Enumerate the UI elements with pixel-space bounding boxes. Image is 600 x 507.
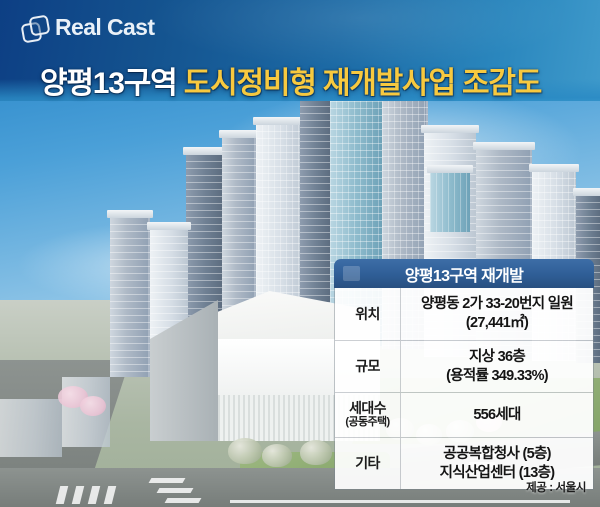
crosswalk-stripe bbox=[157, 488, 194, 493]
row-label: 규모 bbox=[355, 358, 380, 374]
row-value-cell: 양평동 2가 33-20번지 일원 (27,441㎡) bbox=[401, 288, 593, 340]
row-value-line: (용적률 349.33%) bbox=[446, 367, 548, 386]
row-value-line: 지상 36층 bbox=[469, 348, 525, 367]
table-row: 세대수 (공동주택) 556세대 bbox=[335, 393, 593, 437]
spec-table-title: 양평13구역 재개발 bbox=[405, 262, 523, 286]
crosswalk-stripe bbox=[165, 498, 202, 503]
crosswalk-stripe bbox=[149, 478, 186, 483]
row-label: 위치 bbox=[355, 306, 380, 322]
page-title-highlight: 양평13구역 bbox=[40, 67, 177, 100]
tree bbox=[300, 440, 332, 465]
table-row: 규모 지상 36층 (용적률 349.33%) bbox=[335, 341, 593, 394]
row-label-cell: 기타 bbox=[335, 438, 401, 490]
row-sublabel: (공동주택) bbox=[345, 416, 389, 429]
page-title: 양평13구역 도시정비형 재개발사업 조감도 bbox=[40, 58, 541, 102]
row-label-cell: 규모 bbox=[335, 341, 401, 393]
infographic-root: Real Cast 양평13구역 도시정비형 재개발사업 조감도 양평13구역 … bbox=[0, 0, 600, 507]
tree bbox=[228, 438, 262, 464]
row-value-line: 556세대 bbox=[473, 406, 520, 425]
tree bbox=[262, 444, 292, 467]
row-label-cell: 세대수 (공동주택) bbox=[335, 393, 401, 436]
row-value-cell: 지상 36층 (용적률 349.33%) bbox=[401, 341, 593, 393]
overlapping-squares-icon bbox=[22, 15, 48, 41]
blossom-tree bbox=[80, 396, 106, 416]
table-row: 위치 양평동 2가 33-20번지 일원 (27,441㎡) bbox=[335, 288, 593, 341]
row-label-cell: 위치 bbox=[335, 288, 401, 340]
spec-table-body: 위치 양평동 2가 33-20번지 일원 (27,441㎡) 규모 지상 36층… bbox=[334, 288, 594, 490]
page-title-rest: 도시정비형 재개발사업 조감도 bbox=[184, 67, 541, 100]
tower-right-glass-top bbox=[430, 172, 470, 232]
lane-marking bbox=[230, 500, 570, 503]
tower-left-1 bbox=[110, 217, 150, 377]
spec-table: 양평13구역 재개발 위치 양평동 2가 33-20번지 일원 (27,441㎡… bbox=[334, 259, 594, 490]
brand-logo[interactable]: Real Cast bbox=[22, 14, 154, 41]
source-credit: 제공 : 서울시 bbox=[526, 479, 586, 495]
row-value-cell: 556세대 bbox=[401, 393, 593, 436]
row-label: 세대수 bbox=[349, 400, 386, 416]
spec-table-header: 양평13구역 재개발 bbox=[334, 259, 594, 288]
row-label: 기타 bbox=[355, 455, 380, 471]
header-chip-icon bbox=[343, 266, 360, 281]
building-edge-left bbox=[0, 399, 62, 457]
row-value-line: 양평동 2가 33-20번지 일원 bbox=[421, 295, 573, 314]
brand-logo-text: Real Cast bbox=[55, 14, 154, 41]
row-value-line: (27,441㎡) bbox=[466, 314, 528, 333]
row-value-line: 공공복합청사 (5층) bbox=[443, 445, 550, 464]
